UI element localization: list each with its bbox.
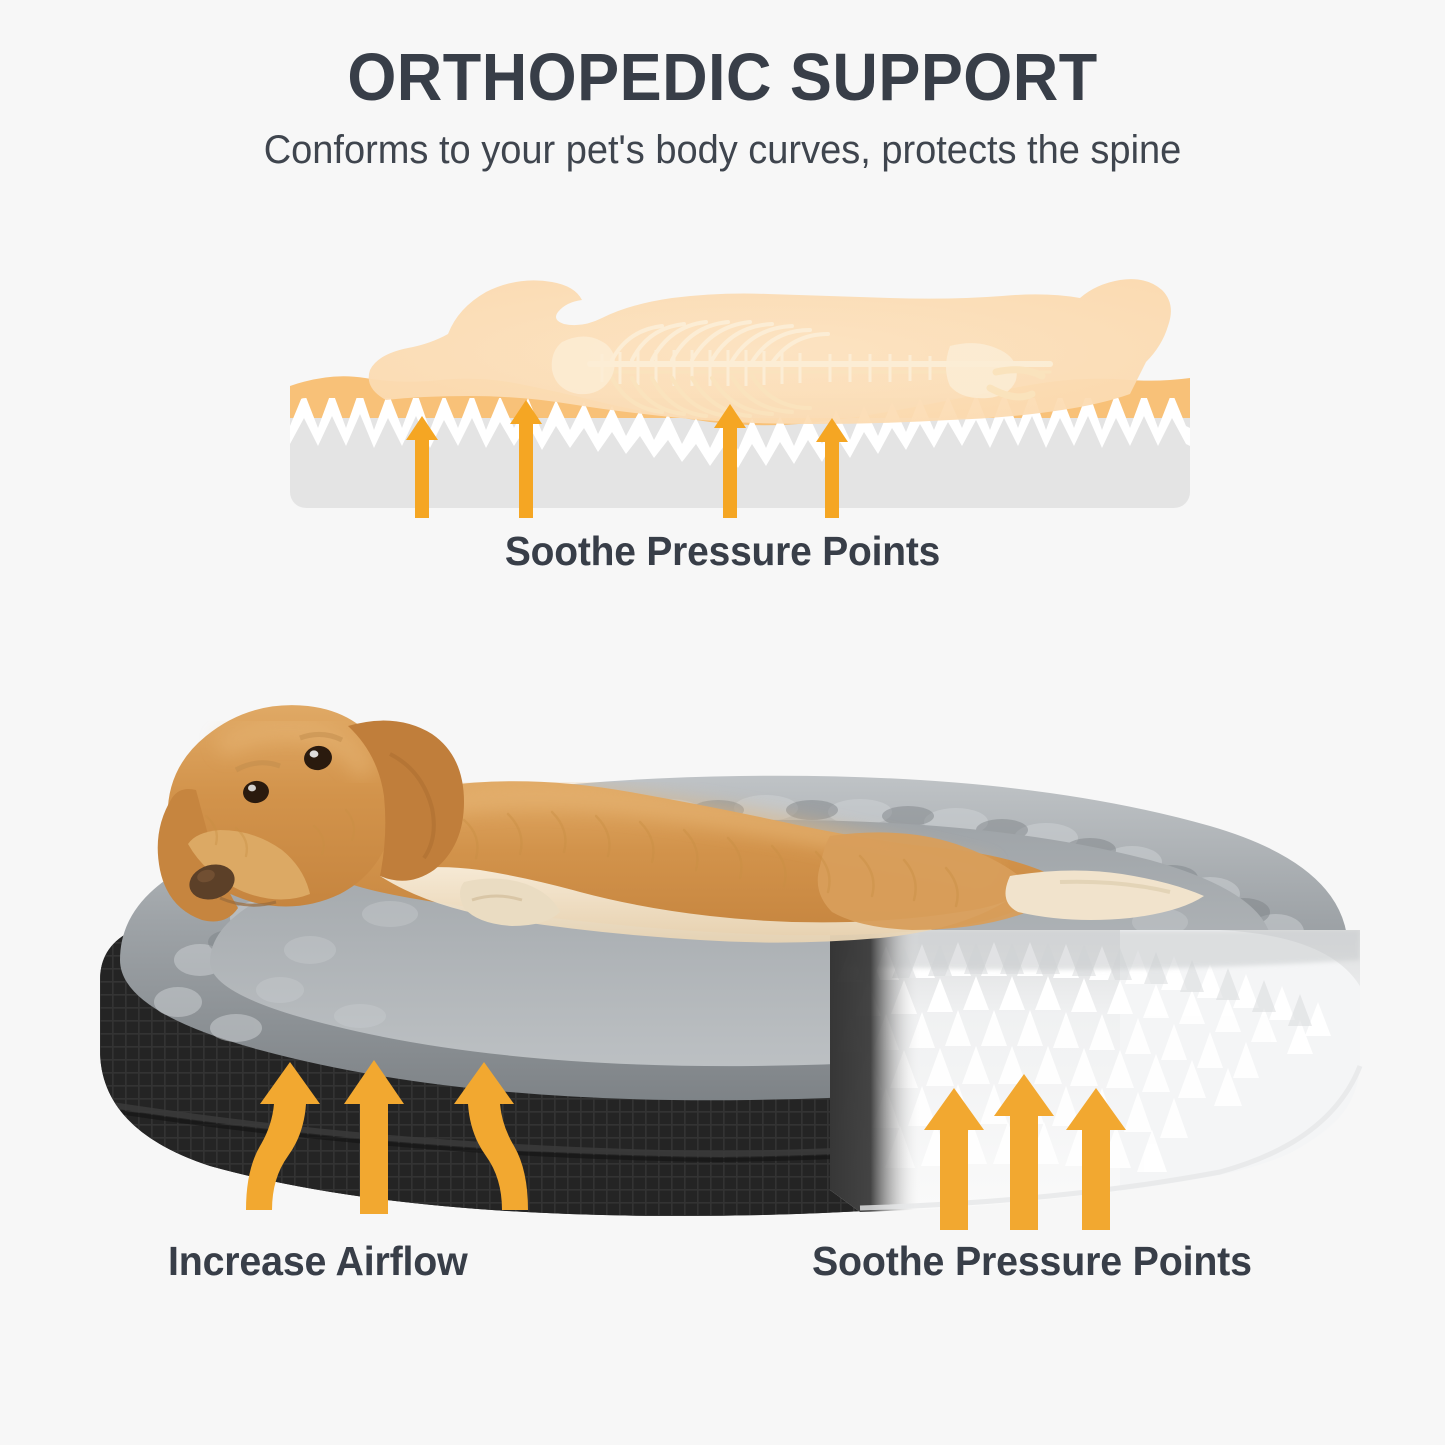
- header: ORTHOPEDIC SUPPORT Conforms to your pet'…: [0, 44, 1445, 172]
- page-subtitle: Conforms to your pet's body curves, prot…: [36, 128, 1409, 172]
- pressure-arrows-product: [924, 1074, 1126, 1230]
- page-title: ORTHOPEDIC SUPPORT: [43, 44, 1401, 112]
- product-illustration: [60, 630, 1400, 1230]
- diagram-label: Soothe Pressure Points: [36, 528, 1409, 575]
- infographic-page: ORTHOPEDIC SUPPORT Conforms to your pet'…: [0, 0, 1445, 1445]
- cross-section-diagram: [290, 268, 1190, 518]
- pressure-points-label: Soothe Pressure Points: [812, 1238, 1252, 1285]
- product-svg: [60, 630, 1400, 1230]
- airflow-label: Increase Airflow: [168, 1238, 468, 1285]
- cross-section-svg: [290, 268, 1190, 518]
